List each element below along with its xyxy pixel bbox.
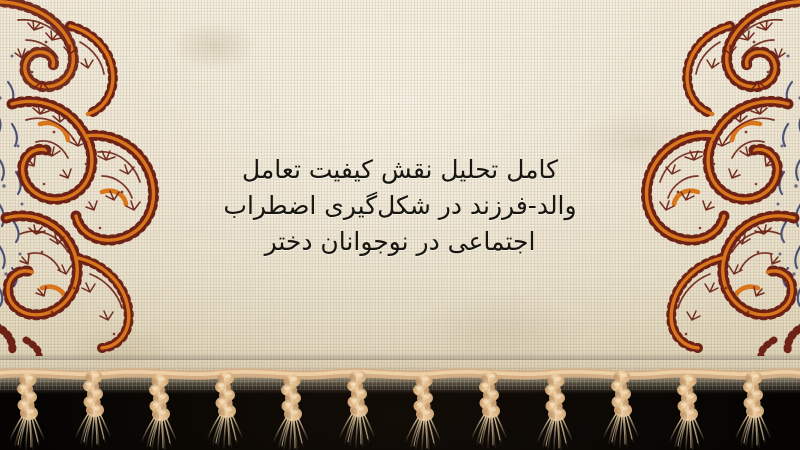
title-line-1: کامل تحلیل نقش کیفیت تعامل xyxy=(120,152,680,188)
slide-canvas: کامل تحلیل نقش کیفیت تعامل والد-فرزند در… xyxy=(0,0,800,450)
title-line-2: والد-فرزند در شکل‌گیری اضطراب xyxy=(120,188,680,224)
title-line-3: اجتماعی در نوجوانان دختر xyxy=(120,224,680,260)
cloth-hem xyxy=(0,360,800,394)
page-title: کامل تحلیل نقش کیفیت تعامل والد-فرزند در… xyxy=(120,152,680,260)
